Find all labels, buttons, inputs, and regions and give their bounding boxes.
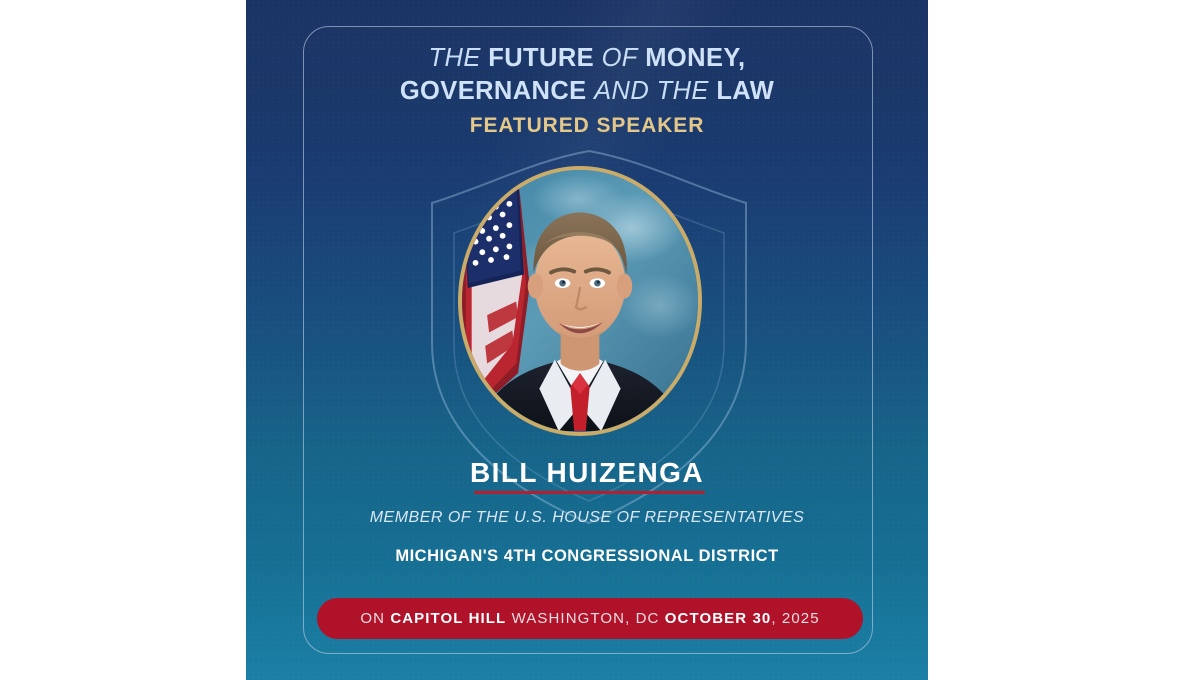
banner-venue: CAPITOL HILL xyxy=(390,610,506,627)
headline-word: THE xyxy=(429,44,481,72)
speaker-portrait xyxy=(458,166,702,436)
headline-word: LAW xyxy=(716,77,774,105)
headline-word: OF xyxy=(602,44,638,72)
headline-line-2: GOVERNANCE AND THE LAW xyxy=(246,75,928,108)
name-underline-rule xyxy=(474,491,705,494)
headline-word: AND THE xyxy=(594,77,709,105)
banner-city: WASHINGTON, DC xyxy=(512,610,660,627)
banner-date: OCTOBER 30 xyxy=(665,610,772,627)
headline-word: GOVERNANCE xyxy=(400,77,587,105)
event-details-banner: ON CAPITOL HILL WASHINGTON, DC OCTOBER 3… xyxy=(317,598,863,639)
event-details-text: ON CAPITOL HILL WASHINGTON, DC OCTOBER 3… xyxy=(360,610,819,627)
speaker-name: BILL HUIZENGA xyxy=(246,457,928,489)
speaker-district: MICHIGAN'S 4TH CONGRESSIONAL DISTRICT xyxy=(246,547,928,566)
portrait-photo xyxy=(462,170,698,431)
page-title: THE FUTURE OF MONEY, GOVERNANCE AND THE … xyxy=(246,42,928,107)
headline-line-1: THE FUTURE OF MONEY, xyxy=(246,42,928,75)
headline-word: MONEY, xyxy=(645,44,745,72)
headline-word: FUTURE xyxy=(488,44,594,72)
screenshot-root: THE FUTURE OF MONEY, GOVERNANCE AND THE … xyxy=(0,0,1200,680)
event-poster: THE FUTURE OF MONEY, GOVERNANCE AND THE … xyxy=(246,0,928,680)
featured-speaker-label: FEATURED SPEAKER xyxy=(246,114,928,138)
banner-prefix: ON xyxy=(360,610,385,627)
speaker-role: MEMBER OF THE U.S. HOUSE OF REPRESENTATI… xyxy=(246,509,928,527)
banner-year: , 2025 xyxy=(771,610,819,627)
portrait-gold-ring xyxy=(458,166,702,436)
